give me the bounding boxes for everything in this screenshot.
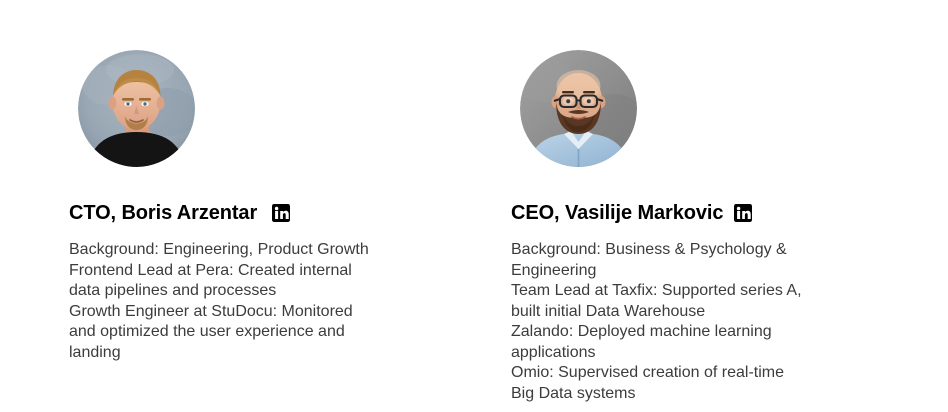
person-name: CEO, Vasilije Markovic <box>511 202 723 225</box>
avatar <box>520 50 637 167</box>
profile-card: CTO, Boris Arzentar Background: Engineer… <box>69 0 469 363</box>
bio-line: Zalando: Deployed machine learning <box>511 322 911 343</box>
bio-line: Team Lead at Taxfix: Supported series A, <box>511 281 911 302</box>
bio-line: applications <box>511 343 911 364</box>
name-row: CTO, Boris Arzentar <box>69 200 469 226</box>
avatar-image-vasilije <box>520 50 637 167</box>
avatar-image-boris <box>78 50 195 167</box>
person-name: CTO, Boris Arzentar <box>69 202 257 225</box>
bio-line: Background: Business & Psychology & <box>511 240 911 261</box>
bio-text: Background: Engineering, Product Growth … <box>69 240 469 363</box>
avatar <box>78 50 195 167</box>
team-profiles-section: CTO, Boris Arzentar Background: Engineer… <box>0 0 948 412</box>
linkedin-glyph <box>272 204 290 222</box>
bio-line: Background: Engineering, Product Growth <box>69 240 469 261</box>
bio-line: Omio: Supervised creation of real-time <box>511 363 911 384</box>
bio-line: landing <box>69 343 469 364</box>
bio-line: and optimized the user experience and <box>69 322 469 343</box>
linkedin-icon[interactable] <box>734 204 752 222</box>
bio-line: Frontend Lead at Pera: Created internal <box>69 261 469 282</box>
bio-line: built initial Data Warehouse <box>511 302 911 323</box>
bio-text: Background: Business & Psychology & Engi… <box>511 240 911 404</box>
bio-line: Growth Engineer at StuDocu: Monitored <box>69 302 469 323</box>
bio-line: data pipelines and processes <box>69 281 469 302</box>
bio-line: Engineering <box>511 261 911 282</box>
bio-line: Big Data systems <box>511 384 911 405</box>
profile-card: CEO, Vasilije Markovic Background: Busin… <box>511 0 911 404</box>
linkedin-icon[interactable] <box>272 204 290 222</box>
linkedin-glyph <box>734 204 752 222</box>
name-row: CEO, Vasilije Markovic <box>511 200 911 226</box>
